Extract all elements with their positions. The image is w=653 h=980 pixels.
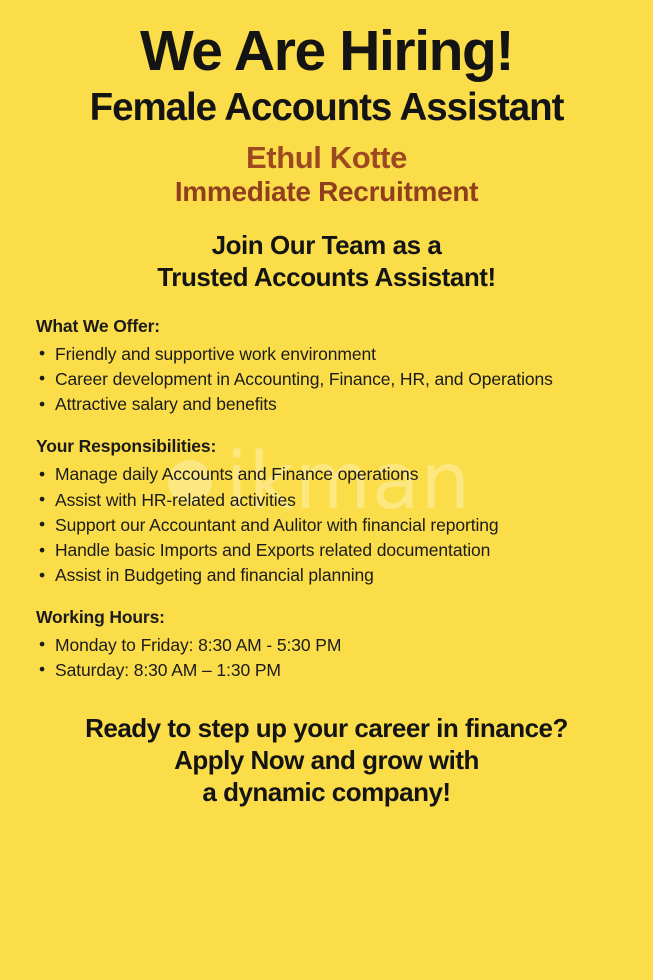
responsibilities-section-title: Your Responsibilities: [36, 436, 631, 457]
list-item: Manage daily Accounts and Finance operat… [36, 463, 631, 486]
offer-section: What We Offer: Friendly and supportive w… [22, 316, 631, 417]
job-title: Female Accounts Assistant [22, 88, 631, 129]
list-item: Monday to Friday: 8:30 AM - 5:30 PM [36, 634, 631, 657]
list-item: Support our Accountant and Aulitor with … [36, 514, 631, 537]
list-item: Friendly and supportive work environment [36, 343, 631, 366]
tagline: Join Our Team as a Trusted Accounts Assi… [22, 230, 631, 294]
responsibilities-list: Manage daily Accounts and Finance operat… [36, 463, 631, 587]
list-item: Attractive salary and benefits [36, 393, 631, 416]
tagline-line-2: Trusted Accounts Assistant! [22, 262, 631, 294]
list-item: Saturday: 8:30 AM – 1:30 PM [36, 659, 631, 682]
list-item: Career development in Accounting, Financ… [36, 368, 631, 391]
job-advertisement-poster: ikman We Are Hiring! Female Accounts Ass… [0, 0, 653, 980]
offer-list: Friendly and supportive work environment… [36, 343, 631, 417]
tagline-line-1: Join Our Team as a [22, 230, 631, 262]
cta-line-1: Ready to step up your career in finance? [22, 713, 631, 745]
recruitment-urgency: Immediate Recruitment [22, 177, 631, 207]
list-item: Handle basic Imports and Exports related… [36, 539, 631, 562]
page-title: We Are Hiring! [22, 0, 631, 80]
responsibilities-section: Your Responsibilities: Manage daily Acco… [22, 436, 631, 587]
working-hours-section-title: Working Hours: [36, 607, 631, 628]
list-item: Assist in Budgeting and financial planni… [36, 564, 631, 587]
call-to-action: Ready to step up your career in finance?… [22, 713, 631, 808]
offer-section-title: What We Offer: [36, 316, 631, 337]
list-item: Assist with HR-related activities [36, 489, 631, 512]
poster-content: We Are Hiring! Female Accounts Assistant… [0, 0, 653, 980]
cta-line-3: a dynamic company! [22, 777, 631, 809]
working-hours-section: Working Hours: Monday to Friday: 8:30 AM… [22, 607, 631, 683]
job-location: Ethul Kotte [22, 141, 631, 174]
working-hours-list: Monday to Friday: 8:30 AM - 5:30 PM Satu… [36, 634, 631, 683]
cta-line-2: Apply Now and grow with [22, 745, 631, 777]
